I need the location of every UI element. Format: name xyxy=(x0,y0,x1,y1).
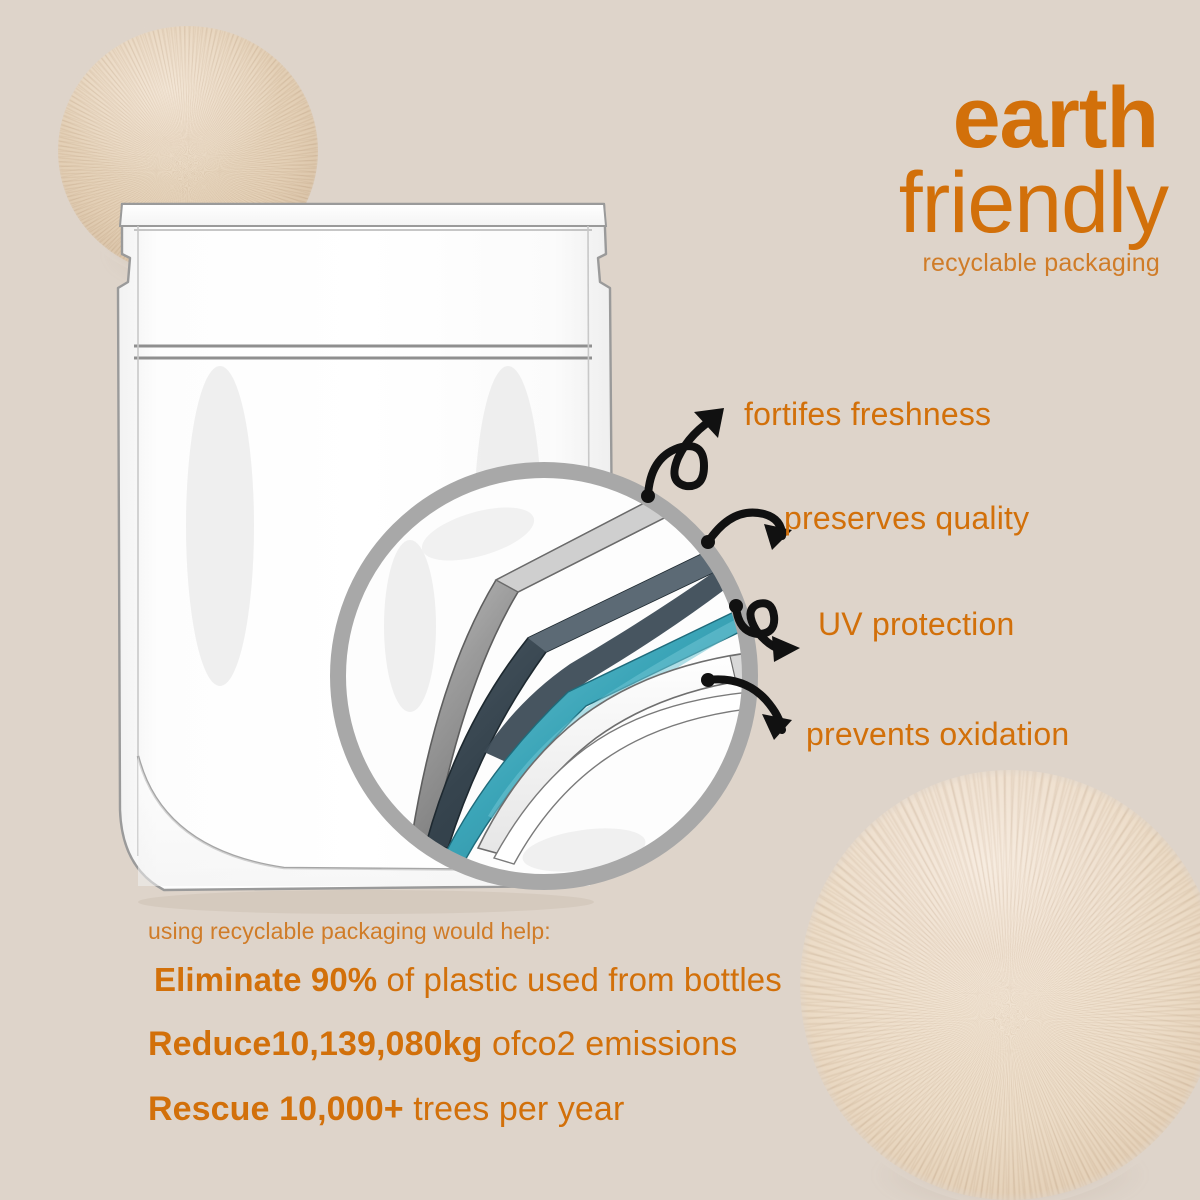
feature-label-fortifes-freshness: fortifes freshness xyxy=(744,396,991,433)
arrow-head xyxy=(694,408,724,438)
statistic-value-reduce: Reduce10,139,080kg xyxy=(148,1025,482,1063)
feature-label-prevents-oxidation: prevents oxidation xyxy=(806,716,1069,753)
statistic-text-reduce: ofco2 emissions xyxy=(482,1025,737,1063)
statistic-value-eliminate: Eliminate 90% xyxy=(154,961,377,998)
statistic-row-rescue: Rescue 10,000+ trees per year xyxy=(148,1090,908,1129)
statistics-block: using recyclable packaging would help: E… xyxy=(148,918,908,1155)
headline-subtitle: recyclable packaging xyxy=(700,249,1170,278)
statistics-intro: using recyclable packaging would help: xyxy=(148,918,908,945)
feature-label-preserves-quality: preserves quality xyxy=(784,500,1029,537)
statistic-row-reduce: Reduce10,139,080kg ofco2 emissions xyxy=(148,1025,908,1064)
pouch-fold-highlight-left xyxy=(186,366,254,686)
pouch-top-seal xyxy=(120,204,606,226)
headline-block: earth friendly recyclable packaging xyxy=(700,78,1170,278)
statistic-text-rescue: trees per year xyxy=(404,1090,625,1128)
arrow-head xyxy=(772,636,800,662)
magnified-material-cross-section xyxy=(318,450,770,902)
statistic-text-eliminate: of plastic used from bottles xyxy=(377,961,782,998)
feature-label-uv-protection: UV protection xyxy=(818,606,1014,643)
headline-line-1: earth xyxy=(700,78,1170,160)
headline-line-2: friendly xyxy=(700,160,1170,248)
statistic-value-rescue: Rescue 10,000+ xyxy=(148,1090,404,1128)
infographic-poster: earth friendly recyclable packaging fort… xyxy=(0,0,1200,1200)
statistic-row-eliminate: Eliminate 90% of plastic used from bottl… xyxy=(148,961,908,999)
lens-pouch-highlight-left xyxy=(384,540,436,712)
